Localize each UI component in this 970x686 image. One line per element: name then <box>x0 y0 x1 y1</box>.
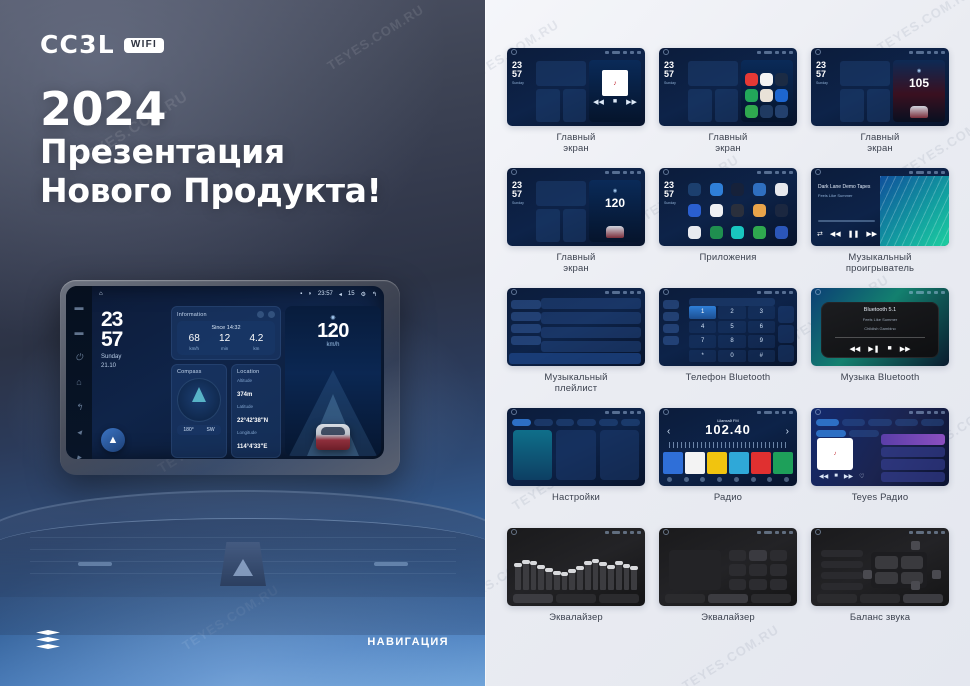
player-controls[interactable]: ⇄◀◀❚❚▶▶ <box>817 230 877 238</box>
clock-day: Sunday <box>512 81 535 85</box>
station-row <box>881 459 945 470</box>
favorite-icon <box>778 306 794 323</box>
gallery-item[interactable]: Музыкальныйплейлист <box>507 288 645 408</box>
tab-general <box>599 419 618 426</box>
eq-band <box>608 565 614 590</box>
track-title: Feels Like Summer <box>863 317 897 322</box>
tab-presets <box>556 594 596 603</box>
clock-hours: 23 <box>101 310 165 330</box>
gear-icon[interactable]: ⚙ <box>361 291 366 298</box>
dialpad[interactable]: 1 2 3 4 5 6 7 8 9 * 0 # <box>689 306 775 362</box>
prev-icon: ◀◀ <box>593 98 604 106</box>
thumb-home-nav-red[interactable]: 2357Sunday ◉ 105 <box>811 48 949 126</box>
caption-line-2: экран <box>563 143 589 154</box>
preset-5[interactable] <box>751 452 771 474</box>
caption-line-1: Эквалайзер <box>701 612 755 623</box>
longitude-label: Longitude <box>237 430 275 435</box>
tab-eq <box>817 594 857 603</box>
eq-icon <box>700 477 705 482</box>
balance-options[interactable] <box>821 550 863 590</box>
back-icon[interactable]: ↰ <box>372 291 377 298</box>
clock-minutes: 57 <box>512 70 535 79</box>
caption-line-1: Главный <box>709 132 748 143</box>
eq-band <box>538 565 544 590</box>
balance-down-button[interactable] <box>911 581 920 590</box>
caption-line-2: плейлист <box>555 383 597 394</box>
option-rear <box>821 561 863 568</box>
track-title: Dark Lane Demo Tapes <box>818 184 870 190</box>
car-icon <box>606 226 624 238</box>
compass-degrees: 180° <box>183 427 193 433</box>
chip-pop <box>816 430 846 437</box>
panel-divider <box>485 0 486 686</box>
dial-key-1[interactable]: 1 <box>689 306 716 319</box>
presentation-slide: TEYES.COM.RU TEYES.COM.RU TEYES.COM.RU T… <box>0 0 970 686</box>
caption-line-2: экран <box>867 143 893 154</box>
preset-2[interactable] <box>685 452 705 474</box>
app-icon-chrome[interactable] <box>688 204 701 217</box>
hero-line-2: Нового Продукта! <box>40 172 381 211</box>
dial-key-star[interactable]: * <box>689 350 716 363</box>
brand-logo: CC3L WIFI <box>40 30 164 59</box>
balance-up-button[interactable] <box>911 541 920 550</box>
gallery-item[interactable]: 2357Sunday <box>659 48 797 168</box>
navigation-widget[interactable]: ◉ 120 <box>589 180 641 242</box>
navigation-button[interactable]: ▲ <box>101 428 125 452</box>
eq-band <box>569 569 575 590</box>
shuffle-icon: ⇄ <box>817 230 823 238</box>
thumb-home-nav-blue[interactable]: 2357Sunday ◉ 120 <box>507 168 645 246</box>
tab-all <box>816 419 839 426</box>
hero-line-1: Презентация <box>40 133 381 172</box>
dial-key-6[interactable]: 6 <box>748 321 775 334</box>
category-tabs[interactable] <box>816 419 944 426</box>
altitude-row: Altitude 374m <box>237 378 275 401</box>
equalizer-sliders[interactable] <box>515 548 637 590</box>
station-row <box>881 434 945 445</box>
app-icon-bluetooth-music[interactable] <box>731 183 744 196</box>
caption-line-1: Баланс звука <box>850 612 910 623</box>
radio-toolbar[interactable] <box>663 475 793 483</box>
clock-day: Sunday <box>664 81 687 85</box>
balance-left-button[interactable] <box>863 570 872 579</box>
caption-line-2: проигрыватель <box>846 263 914 274</box>
eq-band <box>593 559 599 590</box>
equalizer-tabs[interactable] <box>513 594 639 603</box>
gallery-item[interactable]: Баланс звука <box>811 528 949 648</box>
power-icon[interactable]: ⏻ <box>74 352 85 363</box>
brand-model-text: CC3L <box>40 30 115 59</box>
app-icon-mail[interactable] <box>775 89 788 102</box>
caption-line-1: Радио <box>714 492 742 503</box>
track-artist: Feels Like Summer <box>818 193 852 198</box>
power-icon <box>784 477 789 482</box>
gallery-item[interactable]: 1 2 3 4 5 6 7 8 9 * 0 # <box>659 288 797 408</box>
app-icon-camera[interactable] <box>775 183 788 196</box>
stat-value: 4.2 <box>249 334 263 344</box>
app-icon-google[interactable] <box>688 226 701 239</box>
tile-carplay[interactable] <box>556 430 595 480</box>
app-icon-maps[interactable] <box>710 226 723 239</box>
caption-line-2: экран <box>715 143 741 154</box>
hero-year: 2024 <box>40 85 381 133</box>
dial-key-7[interactable]: 7 <box>689 335 716 348</box>
soft-key-rail[interactable]: ▬ ▬ ⏻ ⌂ ↰ ◂ ▸ <box>66 286 92 459</box>
app-icon-dvr[interactable] <box>731 204 744 217</box>
app-icon-play[interactable] <box>745 105 758 118</box>
settings-tiles[interactable] <box>513 430 639 480</box>
hero-panel: TEYES.COM.RU TEYES.COM.RU TEYES.COM.RU T… <box>0 0 485 686</box>
gallery-item[interactable]: 2357Sunday <box>659 168 797 288</box>
stat-value: 68 <box>189 334 200 344</box>
tile-wifi[interactable] <box>513 430 552 480</box>
tab-balance <box>903 594 943 603</box>
gallery-item[interactable]: Bluetooth 5.1 Feels Like Summer Childish… <box>811 288 949 408</box>
eq-band <box>577 566 583 590</box>
prev-icon: ◀◀ <box>849 345 860 353</box>
app-icon-clock[interactable] <box>710 204 723 217</box>
pause-icon: ❚❚ <box>848 230 860 238</box>
bluetooth-version: Bluetooth 5.1 <box>864 307 896 313</box>
tab-favorites <box>895 419 918 426</box>
caption-line-1: Главный <box>557 252 596 263</box>
option-front <box>821 550 863 557</box>
volume-icon: ◂ <box>339 291 342 298</box>
tab-balance <box>599 594 639 603</box>
tab-update <box>621 419 640 426</box>
radio-frequency: 102.40 <box>659 422 797 437</box>
rt-icon <box>734 477 739 482</box>
caption-line-2: экран <box>563 263 589 274</box>
tile-more[interactable] <box>600 430 639 480</box>
dashboard-illustration: ▬ ▬ ⏻ ⌂ ↰ ◂ ▸ ⌂ ▪ ◗ 23:57 ◂ 15 ⚙ <box>0 240 485 640</box>
next-icon: ▶▶ <box>844 473 853 480</box>
clock-day: Sunday <box>512 201 535 205</box>
preset-custom <box>749 564 766 575</box>
head-unit-screen: ▬ ▬ ⏻ ⌂ ↰ ◂ ▸ ⌂ ▪ ◗ 23:57 ◂ 15 ⚙ <box>66 286 384 459</box>
hazard-button[interactable] <box>220 542 266 586</box>
progress-bar[interactable] <box>835 337 925 338</box>
clock-day: Sunday <box>816 81 839 85</box>
app-icon-youtube[interactable] <box>745 73 758 86</box>
preset-grid[interactable] <box>729 550 787 590</box>
chip-rock <box>849 430 879 437</box>
location-title: Location <box>237 369 275 375</box>
player-controls[interactable]: ◀◀■▶▶♡ <box>819 473 864 480</box>
center-console <box>0 490 485 635</box>
app-icon-filemanager[interactable] <box>753 204 766 217</box>
player-controls[interactable]: ◀◀■▶▶ <box>589 98 641 106</box>
mute-icon[interactable]: ▬ <box>74 302 85 313</box>
keypad-icon <box>778 325 794 342</box>
track-artist: Childish Gambino <box>864 326 896 331</box>
app-icon-wifi[interactable] <box>688 183 701 196</box>
app-icon-radio[interactable] <box>775 226 788 239</box>
dial-key-9[interactable]: 9 <box>748 335 775 348</box>
station-logo: ♪ <box>817 438 853 470</box>
information-stats: 68 km/h 12 min 4.2 km <box>179 334 273 351</box>
home-icon[interactable]: ⌂ <box>99 291 103 297</box>
eq-band <box>585 561 591 590</box>
hazard-triangle-icon <box>233 559 253 576</box>
next-icon: ▶▶ <box>626 98 637 106</box>
band-icon <box>667 477 672 482</box>
thumb-teyes-radio[interactable]: ♪ ◀◀■▶▶♡ <box>811 408 949 486</box>
compass-dial <box>177 378 221 422</box>
back-icon[interactable]: ↰ <box>74 402 85 413</box>
eq-band <box>515 563 521 590</box>
next-icon: ▶▶ <box>900 345 911 353</box>
gallery-item[interactable]: 2357Sunday ◉ 105 Главныйэкран <box>811 48 949 168</box>
dial-key-0[interactable]: 0 <box>718 350 745 363</box>
compass-card[interactable]: Compass 180° SW <box>171 364 227 458</box>
latitude-label: Latitude <box>237 404 275 409</box>
thumb-bluetooth-music[interactable]: Bluetooth 5.1 Feels Like Summer Childish… <box>811 288 949 366</box>
app-icon-files[interactable] <box>760 105 773 118</box>
album-art: ♪ <box>602 70 628 96</box>
gallery-item[interactable]: 2357Sunday ♪ ◀◀■▶▶ Главныйэкран <box>507 48 645 168</box>
thumb-apps[interactable]: 2357Sunday <box>659 168 797 246</box>
volume-up-icon[interactable]: ▸ <box>74 452 85 459</box>
watermark: TEYES.COM.RU <box>324 2 426 74</box>
home-widgets: 23 57 Sunday 21.10 ▲ Information <box>96 303 384 459</box>
eq-band <box>554 571 560 590</box>
gallery-item[interactable]: ♪ ◀◀■▶▶♡ Teyes Радио <box>811 408 949 528</box>
cruise-icon: ◉ <box>589 188 641 194</box>
clock-minutes: 57 <box>101 330 165 350</box>
caption-line-1: Телефон Bluetooth <box>686 372 771 383</box>
app-shortcuts[interactable] <box>741 60 793 122</box>
clock-widget: 23 57 Sunday 21.10 ▲ <box>99 306 167 456</box>
caption-line-1: Главный <box>557 132 596 143</box>
stat-time: 12 min <box>219 334 230 351</box>
stop-icon: ■ <box>888 345 892 353</box>
app-icon-spotify[interactable] <box>745 89 758 102</box>
preset-flat <box>749 579 766 590</box>
search-icon <box>684 477 689 482</box>
console-button-right[interactable] <box>374 562 408 566</box>
prev-icon: ◀◀ <box>830 230 841 238</box>
balance-right-button[interactable] <box>932 570 941 579</box>
dial-key-4[interactable]: 4 <box>689 321 716 334</box>
stop-icon: ■ <box>834 473 838 480</box>
option-right <box>821 583 863 590</box>
screens-gallery-panel: TEYES.COM.RU TEYES.COM.RU TEYES.COM.RU T… <box>485 0 970 686</box>
tab-countries <box>868 419 891 426</box>
phone-actions[interactable] <box>778 306 794 362</box>
preset-6[interactable] <box>773 452 793 474</box>
refresh-icon[interactable] <box>257 311 264 318</box>
player-controls[interactable]: ◀◀▶❚■▶▶ <box>849 345 910 353</box>
navigation-caption: НАВИГАЦИЯ <box>367 636 449 648</box>
tab-wifi <box>512 419 531 426</box>
hero-headline: 2024 Презентация Нового Продукта! <box>40 85 381 211</box>
layers-icon <box>36 630 60 650</box>
station-row <box>881 472 945 483</box>
progress-bar[interactable] <box>818 220 875 222</box>
app-icon-maps[interactable] <box>775 73 788 86</box>
thumb-equalizer-bands[interactable] <box>507 528 645 606</box>
expand-icon[interactable] <box>268 311 275 318</box>
thumb-home-music[interactable]: 2357Sunday ♪ ◀◀■▶▶ <box>507 48 645 126</box>
altitude-label: Altitude <box>237 378 275 383</box>
call-icon <box>778 345 794 362</box>
equalizer-tabs[interactable] <box>817 594 943 603</box>
frequency-scale[interactable] <box>669 442 787 448</box>
preset-1[interactable] <box>663 452 683 474</box>
station-presets[interactable] <box>663 452 793 474</box>
speaker-fl <box>875 556 898 569</box>
preset-classic <box>729 564 746 575</box>
tab-system <box>577 419 596 426</box>
caption-line-1: Музыкальный <box>848 252 911 263</box>
tab-presets <box>708 594 748 603</box>
brand-wifi-badge: WIFI <box>124 38 164 53</box>
gallery-item[interactable]: 2357Sunday ◉ 120 Главныйэкран <box>507 168 645 288</box>
playlist-rows[interactable] <box>541 298 641 352</box>
fader-panel[interactable] <box>669 550 721 590</box>
dial-key-8[interactable]: 8 <box>718 335 745 348</box>
station-list[interactable] <box>881 434 945 482</box>
status-volume: 15 <box>348 291 355 297</box>
station-row <box>881 447 945 458</box>
longitude-value: 114°4'33"E <box>237 444 267 450</box>
screens-grid: 2357Sunday ♪ ◀◀■▶▶ Главныйэкран 2357Sund <box>507 48 949 648</box>
dial-key-2[interactable]: 2 <box>718 306 745 319</box>
thumb-bluetooth-phone[interactable]: 1 2 3 4 5 6 7 8 9 * 0 # <box>659 288 797 366</box>
tab-history <box>921 419 944 426</box>
thumb-playlist[interactable] <box>507 288 645 366</box>
dial-key-hash[interactable]: # <box>748 350 775 363</box>
status-time: 23:57 <box>318 291 333 297</box>
thumb-music-player[interactable]: Dark Lane Demo Tapes Feels Like Summer ⇄… <box>811 168 949 246</box>
equalizer-tabs[interactable] <box>665 594 791 603</box>
stat-unit: min <box>219 346 230 351</box>
stat-unit: km <box>249 346 263 351</box>
list-icon <box>717 477 722 482</box>
speed-value: 105 <box>893 76 945 90</box>
latitude-row: Latitude 22°42'38"N <box>237 404 275 427</box>
music-widget[interactable]: ♪ ◀◀■▶▶ <box>589 60 641 122</box>
clock-minutes: 57 <box>512 190 535 199</box>
clock-date: 21.10 <box>101 363 116 369</box>
gallery-item[interactable]: Шанхай FM ‹ › 102.40 <box>659 408 797 528</box>
clock-day: Sunday <box>664 201 687 205</box>
settings-tabs[interactable] <box>512 419 640 426</box>
favorite-icon: ♡ <box>859 473 864 480</box>
dial-key-3[interactable]: 3 <box>748 306 775 319</box>
information-card[interactable]: Information Since 14:32 68 <box>171 306 281 360</box>
signal-icon: ▪ <box>300 291 302 297</box>
eject-icon[interactable]: ▬ <box>74 327 85 338</box>
gallery-item[interactable]: Эквалайзер <box>507 528 645 648</box>
playlist-sidebar[interactable] <box>509 298 543 354</box>
longitude-row: Longitude 114°4'33"E <box>237 430 275 453</box>
volume-down-icon[interactable]: ◂ <box>74 427 85 438</box>
thumb-radio[interactable]: Шанхай FM ‹ › 102.40 <box>659 408 797 486</box>
tab-genres <box>842 419 865 426</box>
compass-needle <box>192 387 206 402</box>
clock-minutes: 57 <box>664 70 687 79</box>
location-card[interactable]: Location Altitude 374m Latitude 22°42'38… <box>231 364 281 458</box>
caption-line-1: Teyes Радио <box>852 492 909 503</box>
eq-band <box>616 561 622 590</box>
watermark: TEYES.COM.RU <box>874 0 970 55</box>
app-icon-gallery[interactable] <box>775 204 788 217</box>
speed-value: 120 <box>589 196 641 210</box>
speaker-rl <box>875 572 898 585</box>
number-field[interactable] <box>689 298 775 306</box>
preset-3[interactable] <box>707 452 727 474</box>
filter-chips[interactable] <box>816 430 879 437</box>
speed-unit: km/h <box>285 342 381 348</box>
tab-sound <box>534 419 553 426</box>
app-icon-music[interactable] <box>731 226 744 239</box>
navigation-widget[interactable]: ◉ 105 <box>893 60 945 122</box>
now-playing-bar[interactable] <box>509 353 641 364</box>
stat-distance: 4.2 km <box>249 334 263 351</box>
status-bar: ⌂ ▪ ◗ 23:57 ◂ 15 ⚙ ↰ <box>92 286 384 302</box>
phone-sidebar[interactable] <box>661 298 681 354</box>
thumb-sound-balance[interactable] <box>811 528 949 606</box>
car-icon <box>910 106 928 118</box>
console-button-left[interactable] <box>78 562 112 566</box>
gallery-item[interactable]: Dark Lane Demo Tapes Feels Like Summer ⇄… <box>811 168 949 288</box>
app-drawer[interactable] <box>685 180 791 242</box>
app-icon-playstore[interactable] <box>753 226 766 239</box>
caption-line-1: Музыка Bluetooth <box>841 372 920 383</box>
app-icon-camera[interactable] <box>760 89 773 102</box>
app-icon-chrome[interactable] <box>760 73 773 86</box>
gallery-item[interactable]: Эквалайзер <box>659 528 797 648</box>
stat-value: 12 <box>219 334 230 344</box>
home-icon[interactable]: ⌂ <box>74 377 85 388</box>
thumb-home-apps[interactable]: 2357Sunday <box>659 48 797 126</box>
ta-icon <box>751 477 756 482</box>
tab-display <box>556 419 575 426</box>
thumb-settings[interactable] <box>507 408 645 486</box>
cruise-icon: ◉ <box>893 68 945 74</box>
prev-icon: ◀◀ <box>819 473 828 480</box>
visualizer-art <box>880 176 949 246</box>
app-icon-all-apps[interactable] <box>775 105 788 118</box>
option-left <box>821 572 863 579</box>
eq-band <box>631 566 637 590</box>
altitude-value: 374m <box>237 392 252 398</box>
car-icon <box>316 424 350 450</box>
dial-key-5[interactable]: 5 <box>718 321 745 334</box>
stat-unit: km/h <box>189 346 200 351</box>
af-icon <box>767 477 772 482</box>
eq-band <box>562 572 568 590</box>
stat-speed: 68 km/h <box>189 334 200 351</box>
play-pause-icon: ▶❚ <box>868 345 879 353</box>
next-icon: ▶▶ <box>866 230 877 238</box>
app-icon-bluetooth[interactable] <box>710 183 723 196</box>
widget-column: Information Since 14:32 68 <box>171 306 281 456</box>
tab-eq <box>665 594 705 603</box>
caption-line-1: Главный <box>861 132 900 143</box>
eq-band <box>624 564 630 590</box>
preset-4[interactable] <box>729 452 749 474</box>
gallery-item[interactable]: Настройки <box>507 408 645 528</box>
bluetooth-player-window: Bluetooth 5.1 Feels Like Summer Childish… <box>821 302 939 358</box>
caption-line-1: Эквалайзер <box>549 612 603 623</box>
latitude-value: 22°42'38"N <box>237 418 268 424</box>
navigation-widget[interactable]: ◉ 120 km/h <box>285 306 381 456</box>
thumb-equalizer-presets[interactable] <box>659 528 797 606</box>
app-icon-calculator[interactable] <box>753 183 766 196</box>
